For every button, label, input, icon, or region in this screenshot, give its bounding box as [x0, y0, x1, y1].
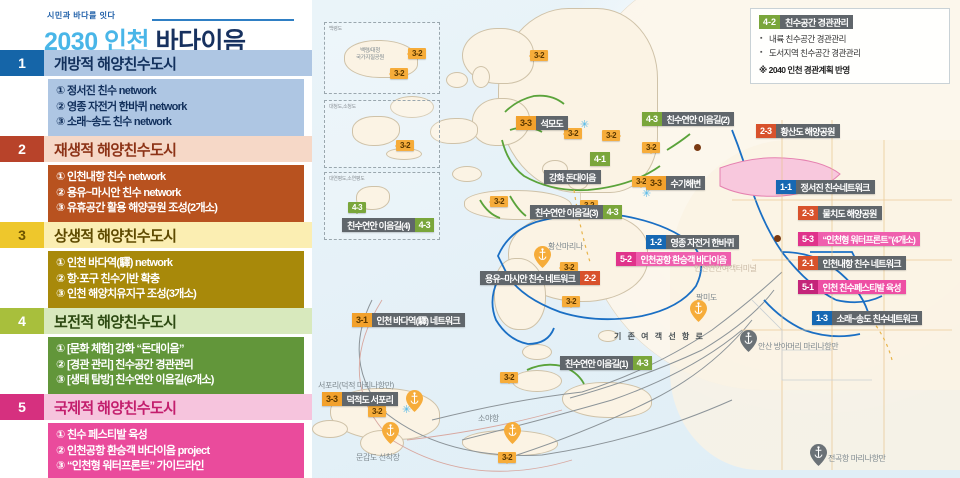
chip-text: 친수연안 이음길(4): [342, 218, 415, 232]
map-chip-dondae[interactable]: 4-1: [590, 152, 610, 166]
list-item: ① 친수 페스티발 육성: [56, 428, 298, 444]
map-tag-3-2[interactable]: 3-2: [396, 140, 414, 151]
port-marker: [774, 235, 781, 242]
map-tag-3-2[interactable]: 3-2: [642, 142, 660, 153]
map-tag-3-2[interactable]: 3-2: [408, 48, 426, 59]
section-2-number: 2: [0, 136, 44, 162]
list-item: ③ 소래~송도 친수 network: [56, 115, 298, 131]
list-item: ① 인천 바다역(驛) network: [56, 256, 298, 272]
section-2-header: 2 재생적 해양친수도시: [0, 136, 312, 162]
ansan-marina-label: 안산 방아머리 마리나항만: [758, 341, 838, 352]
map-tag-3-2[interactable]: 3-2: [500, 372, 518, 383]
chip-text: 석모도: [536, 116, 568, 130]
legend-note: ※ 2040 인천 경관계획 반영: [759, 64, 941, 76]
list-item: ③ [생태 탐방] 친수연안 이음길(6개소): [56, 373, 298, 389]
chip-text: “인천형 워터프론트”(4개소): [818, 232, 921, 246]
map-chip-naehang[interactable]: 2-1 인천내항 친수 네트워크: [798, 256, 906, 270]
map-chip-festival[interactable]: 5-1 인천 친수페스티발 육성: [798, 280, 906, 294]
section-5-items: ① 친수 페스티발 육성 ② 인천공항 환승객 바다이음 project ③ “…: [48, 423, 304, 478]
hwangsan-marina-label: 황산마리나: [548, 241, 583, 252]
brand-rule: [152, 19, 294, 21]
chip-text: 인천 바다역(驛) 네트워크: [372, 313, 465, 327]
chip-text: 정서진 친수네트워크: [796, 180, 875, 194]
healing-zone-icon: ✳: [642, 189, 651, 200]
chip-text: 용유~마시안 친수 네트워크: [480, 271, 580, 285]
map-chip-sorae-songdo[interactable]: 1-3 소래~송도 친수네트워크: [812, 311, 922, 325]
incheon-coastal-map[interactable]: 백령도 백령/대청국가지질공원 대청도,소청도 대연평도,소연평도 4-2 친수…: [312, 0, 960, 478]
inset-caption: 백령도: [329, 25, 342, 32]
chip-text: 인천 친수페스티발 육성: [818, 280, 906, 294]
section-4-number: 4: [0, 308, 44, 334]
chip-code: 3-1: [352, 313, 372, 327]
legend-title: 친수공간 경관관리: [780, 15, 853, 29]
chip-text: 물치도 해양공원: [818, 206, 882, 220]
marina-pin-icon[interactable]: [534, 246, 551, 268]
strategy-section-1[interactable]: 1 개방적 해양친수도시 ① 정서진 친수 network ② 영종 자전거 한…: [0, 50, 312, 137]
chip-text: 수기해변: [666, 176, 706, 190]
section-1-title: 개방적 해양친수도시: [44, 50, 312, 76]
map-tag-3-2[interactable]: 3-2: [602, 130, 620, 141]
chip-code: 2-3: [756, 124, 776, 138]
marina-pin-icon[interactable]: [740, 330, 757, 352]
strategy-section-5[interactable]: 5 국제적 해양친수도시 ① 친수 페스티발 육성 ② 인천공항 환승객 바다이…: [0, 394, 312, 478]
section-4-items: ① [문화 체험] 강화 “돈대이음” ② [경관 관리] 친수공간 경관관리 …: [48, 337, 304, 395]
chip-text: 덕적도 서포리: [342, 392, 399, 406]
list-item: ③ 유휴공간 활용 해양공원 조성(2개소): [56, 201, 298, 217]
section-3-items: ① 인천 바다역(驛) network ② 항·포구 친수기반 확충 ③ 인천 …: [48, 251, 304, 309]
port-marker: [694, 144, 701, 151]
healing-zone-icon: ✳: [402, 405, 411, 416]
map-tag-3-2[interactable]: 3-2: [390, 68, 408, 79]
section-4-header: 4 보전적 해양친수도시: [0, 308, 312, 334]
map-chip-mulchido[interactable]: 2-3 물치도 해양공원: [798, 206, 882, 220]
section-1-header: 1 개방적 해양친수도시: [0, 50, 312, 76]
chip-code: 2-2: [580, 271, 600, 285]
marina-pin-icon[interactable]: [810, 444, 827, 466]
chip-code: 3-3: [322, 392, 342, 406]
map-chip-inset-trail4[interactable]: 4-3 친수연안 이음길(4): [342, 218, 434, 232]
legend-header: 4-2 친수공간 경관관리: [759, 15, 941, 29]
list-item: ② 용유~마시안 친수 network: [56, 186, 298, 202]
chip-code: 2-1: [798, 256, 818, 270]
section-2-items: ① 인천내항 친수 network ② 용유~마시안 친수 network ③ …: [48, 165, 304, 223]
list-item: ② 영종 자전거 한바퀴 network: [56, 100, 298, 116]
chip-text: 친수연안 이음길(3): [530, 205, 603, 219]
strategy-section-2[interactable]: 2 재생적 해양친수도시 ① 인천내항 친수 network ② 용유~마시안 …: [0, 136, 312, 223]
chip-code: 4-3: [603, 205, 623, 219]
chip-code: 1-2: [646, 235, 666, 249]
chip-code: 5-2: [616, 252, 636, 266]
chip-code: 1-1: [776, 180, 796, 194]
chip-code: 5-3: [798, 232, 818, 246]
section-1-number: 1: [0, 50, 44, 76]
section-1-items: ① 정서진 친수 network ② 영종 자전거 한바퀴 network ③ …: [48, 79, 304, 137]
map-chip-seokmodo[interactable]: 3-3 석모도: [516, 116, 568, 130]
strategy-section-4[interactable]: 4 보전적 해양친수도시 ① [문화 체험] 강화 “돈대이음” ② [경관 관…: [0, 308, 312, 395]
healing-zone-icon: ✳: [580, 120, 589, 131]
map-tag-3-2[interactable]: 3-2: [498, 452, 516, 463]
chip-text: 강화 돈대이음: [544, 170, 601, 184]
map-chip-deokjeok-seopori[interactable]: 3-3 덕적도 서포리: [322, 392, 398, 406]
soya-port-label: 소야항: [478, 413, 499, 424]
chip-code: 5-1: [798, 280, 818, 294]
section-3-title: 상생적 해양친수도시: [44, 222, 312, 248]
chip-code: 1-3: [812, 311, 832, 325]
legend-item: 내륙 친수공간 경관관리: [759, 33, 941, 47]
chip-text: 영종 자전거 한바퀴: [666, 235, 739, 249]
legend-code: 4-2: [759, 15, 780, 29]
map-tag-3-2[interactable]: 3-2: [530, 50, 548, 61]
map-tag-3-2[interactable]: 3-2: [562, 296, 580, 307]
chip-code: 4-3: [642, 112, 662, 126]
incheon-terminal-label: 인천연안여객터미널: [694, 263, 757, 274]
map-chip-waterfront[interactable]: 5-3 “인천형 워터프론트”(4개소): [798, 232, 920, 246]
map-tag-3-2[interactable]: 3-2: [490, 196, 508, 207]
inset-caption: 대연평도,소연평도: [329, 175, 365, 182]
chip-text: 황산도 해양공원: [776, 124, 840, 138]
geopark-note: 백령/대청국가지질공원: [356, 48, 384, 61]
chip-text: 인천내항 친수 네트워크: [818, 256, 906, 270]
section-5-header: 5 국제적 해양친수도시: [0, 394, 312, 420]
map-chip-yongyu-masian[interactable]: 2-2 용유~마시안 친수 네트워크: [480, 271, 600, 285]
section-3-number: 3: [0, 222, 44, 248]
list-item: ② 인천공항 환승객 바다이음 project: [56, 444, 298, 460]
map-tag-3-2[interactable]: 3-2: [368, 406, 386, 417]
list-item: ① 정서진 친수 network: [56, 84, 298, 100]
ferry-route-label: 기 존 여 객 선 항 로: [614, 331, 705, 342]
list-item: ① [문화 체험] 강화 “돈대이음”: [56, 342, 298, 358]
map-chip-jeongseojin[interactable]: 1-1 정서진 친수네트워크: [776, 180, 875, 194]
marina-pin-icon[interactable]: [504, 422, 521, 444]
chip-code: 4-3: [633, 356, 653, 370]
marina-pin-icon[interactable]: [382, 422, 399, 444]
list-item: ③ “인천형 워터프론트” 가이드라인: [56, 459, 298, 475]
legend-item: 도서지역 친수공간 경관관리: [759, 47, 941, 61]
section-3-header: 3 상생적 해양친수도시: [0, 222, 312, 248]
section-4-title: 보전적 해양친수도시: [44, 308, 312, 334]
jeongok-marina-label: 전곡항 마리나항만: [828, 453, 886, 464]
section-2-title: 재생적 해양친수도시: [44, 136, 312, 162]
strategy-section-3[interactable]: 3 상생적 해양친수도시 ① 인천 바다역(驛) network ② 항·포구 …: [0, 222, 312, 309]
chip-text: 친수연안 이음길(2): [662, 112, 735, 126]
chip-code: 2-3: [798, 206, 818, 220]
map-chip-yeongjong-bike[interactable]: 1-2 영종 자전거 한바퀴: [646, 235, 739, 249]
legend-panel: 4-2 친수공간 경관관리 내륙 친수공간 경관관리 도서지역 친수공간 경관관…: [750, 8, 950, 84]
chip-code: 4-3: [415, 218, 435, 232]
list-item: ② 항·포구 친수기반 확충: [56, 272, 298, 288]
map-chip-badayeok[interactable]: 3-1 인천 바다역(驛) 네트워크: [352, 313, 465, 327]
map-chip-trail1[interactable]: 4-3 친수연안 이음길(1): [560, 356, 652, 370]
map-chip-sugi-beach[interactable]: 3-3 수기해변: [646, 176, 705, 190]
inset-caption: 대청도,소청도: [329, 103, 356, 110]
list-item: ② [경관 관리] 친수공간 경관관리: [56, 358, 298, 374]
mungapdo-dock-label: 문갑도 선착장: [356, 452, 400, 463]
strategy-panel: 시민과 바다를 잇다 2030 인천 바다이음 1 개방적 해양친수도시 ① 정…: [0, 0, 312, 478]
list-item: ③ 인천 해양치유지구 조성(3개소): [56, 287, 298, 303]
chip-code: 4-1: [590, 152, 610, 166]
section-5-number: 5: [0, 394, 44, 420]
list-item: ① 인천내항 친수 network: [56, 170, 298, 186]
map-tag-4-3[interactable]: 4-3: [348, 202, 366, 213]
map-chip-dondae-text[interactable]: 강화 돈대이음: [544, 170, 601, 184]
seopori-marina-label: 서포리(덕적 마리나항만): [318, 380, 394, 391]
map-chip-trail3[interactable]: 4-3 친수연안 이음길(3): [530, 205, 622, 219]
map-chip-trail2[interactable]: 4-3 친수연안 이음길(2): [642, 112, 734, 126]
map-chip-hwangsando[interactable]: 2-3 황산도 해양공원: [756, 124, 840, 138]
marina-pin-icon[interactable]: [690, 300, 707, 322]
chip-code: 3-3: [516, 116, 536, 130]
chip-text: 친수연안 이음길(1): [560, 356, 633, 370]
chip-text: 소래~송도 친수네트워크: [832, 311, 923, 325]
section-5-title: 국제적 해양친수도시: [44, 394, 312, 420]
